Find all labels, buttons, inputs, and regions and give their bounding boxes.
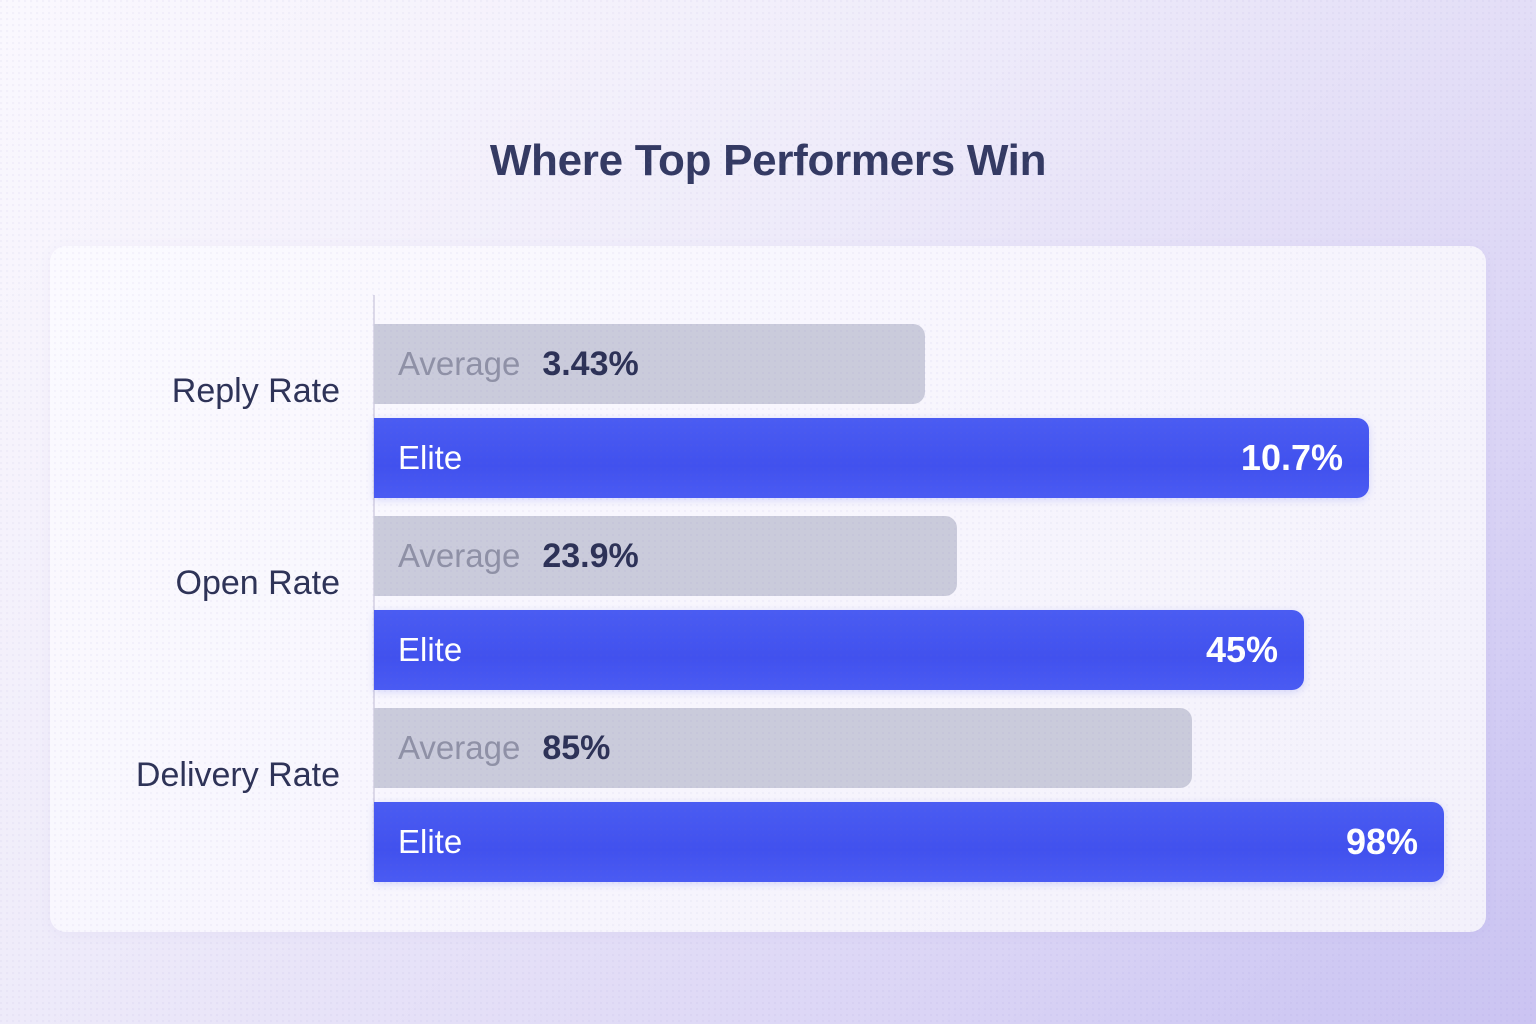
bar-value-average: 3.43%: [542, 345, 638, 384]
chart-plot-area: Reply Rate Average 3.43% Elite 10.7% Ope…: [50, 246, 1486, 932]
bar-value-elite: 10.7%: [1241, 437, 1343, 479]
series-name-average: Average: [398, 345, 520, 383]
bar-value-elite: 45%: [1206, 629, 1278, 671]
bar-elite[interactable]: Elite 45%: [374, 610, 1304, 690]
chart-category-label: Reply Rate: [50, 372, 340, 411]
chart-category-label: Delivery Rate: [50, 756, 340, 795]
series-name-elite: Elite: [398, 631, 462, 669]
bar-value-average: 85%: [542, 729, 610, 768]
chart-title: Where Top Performers Win: [0, 136, 1536, 186]
chart-card: Reply Rate Average 3.43% Elite 10.7% Ope…: [50, 246, 1486, 932]
series-name-elite: Elite: [398, 823, 462, 861]
bar-average[interactable]: Average 85%: [374, 708, 1192, 788]
chart-category-label: Open Rate: [50, 564, 340, 603]
series-name-average: Average: [398, 729, 520, 767]
bar-value-average: 23.9%: [542, 537, 638, 576]
bar-elite[interactable]: Elite 10.7%: [374, 418, 1369, 498]
series-name-average: Average: [398, 537, 520, 575]
bar-elite[interactable]: Elite 98%: [374, 802, 1444, 882]
series-name-elite: Elite: [398, 439, 462, 477]
bar-average[interactable]: Average 23.9%: [374, 516, 957, 596]
bar-average[interactable]: Average 3.43%: [374, 324, 925, 404]
bar-value-elite: 98%: [1346, 821, 1418, 863]
